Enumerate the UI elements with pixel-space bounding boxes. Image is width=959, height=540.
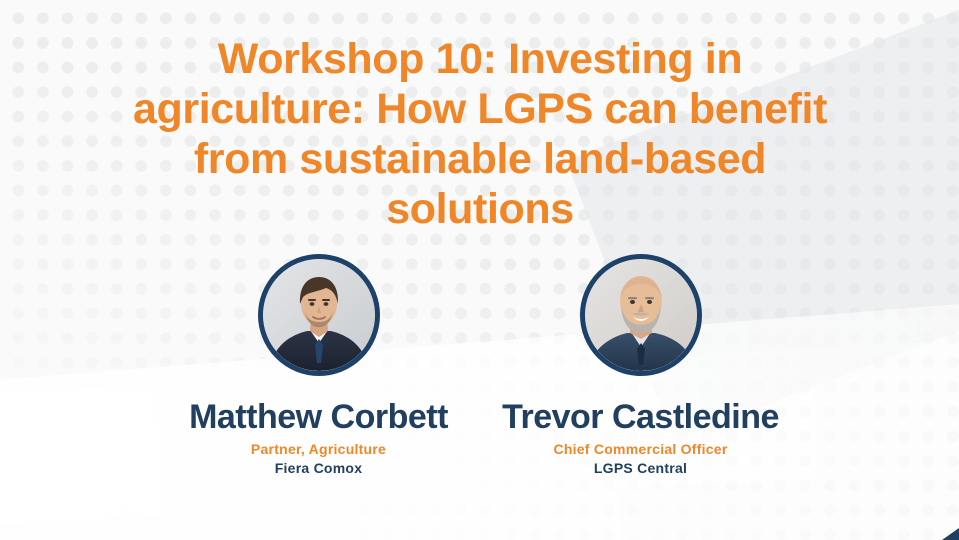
speaker-name: Matthew Corbett — [189, 398, 448, 436]
speaker-card: Matthew Corbett Partner, Agriculture Fie… — [158, 254, 480, 477]
presentation-slide: Workshop 10: Investing in agriculture: H… — [0, 0, 959, 540]
speaker-organisation: Fiera Comox — [275, 459, 363, 477]
speaker-card: Trevor Castledine Chief Commercial Offic… — [480, 254, 802, 477]
slide-title: Workshop 10: Investing in agriculture: H… — [110, 34, 850, 234]
speaker-list: Matthew Corbett Partner, Agriculture Fie… — [0, 254, 959, 477]
portrait-matthew-corbett-image — [263, 259, 375, 371]
portrait-trevor-castledine-image — [585, 259, 697, 371]
avatar — [580, 254, 702, 376]
speaker-role: Partner, Agriculture — [251, 440, 386, 458]
speaker-role: Chief Commercial Officer — [553, 440, 727, 458]
avatar — [258, 254, 380, 376]
speaker-organisation: LGPS Central — [594, 459, 687, 477]
speaker-name: Trevor Castledine — [502, 398, 779, 436]
slide-content: Workshop 10: Investing in agriculture: H… — [0, 0, 959, 540]
